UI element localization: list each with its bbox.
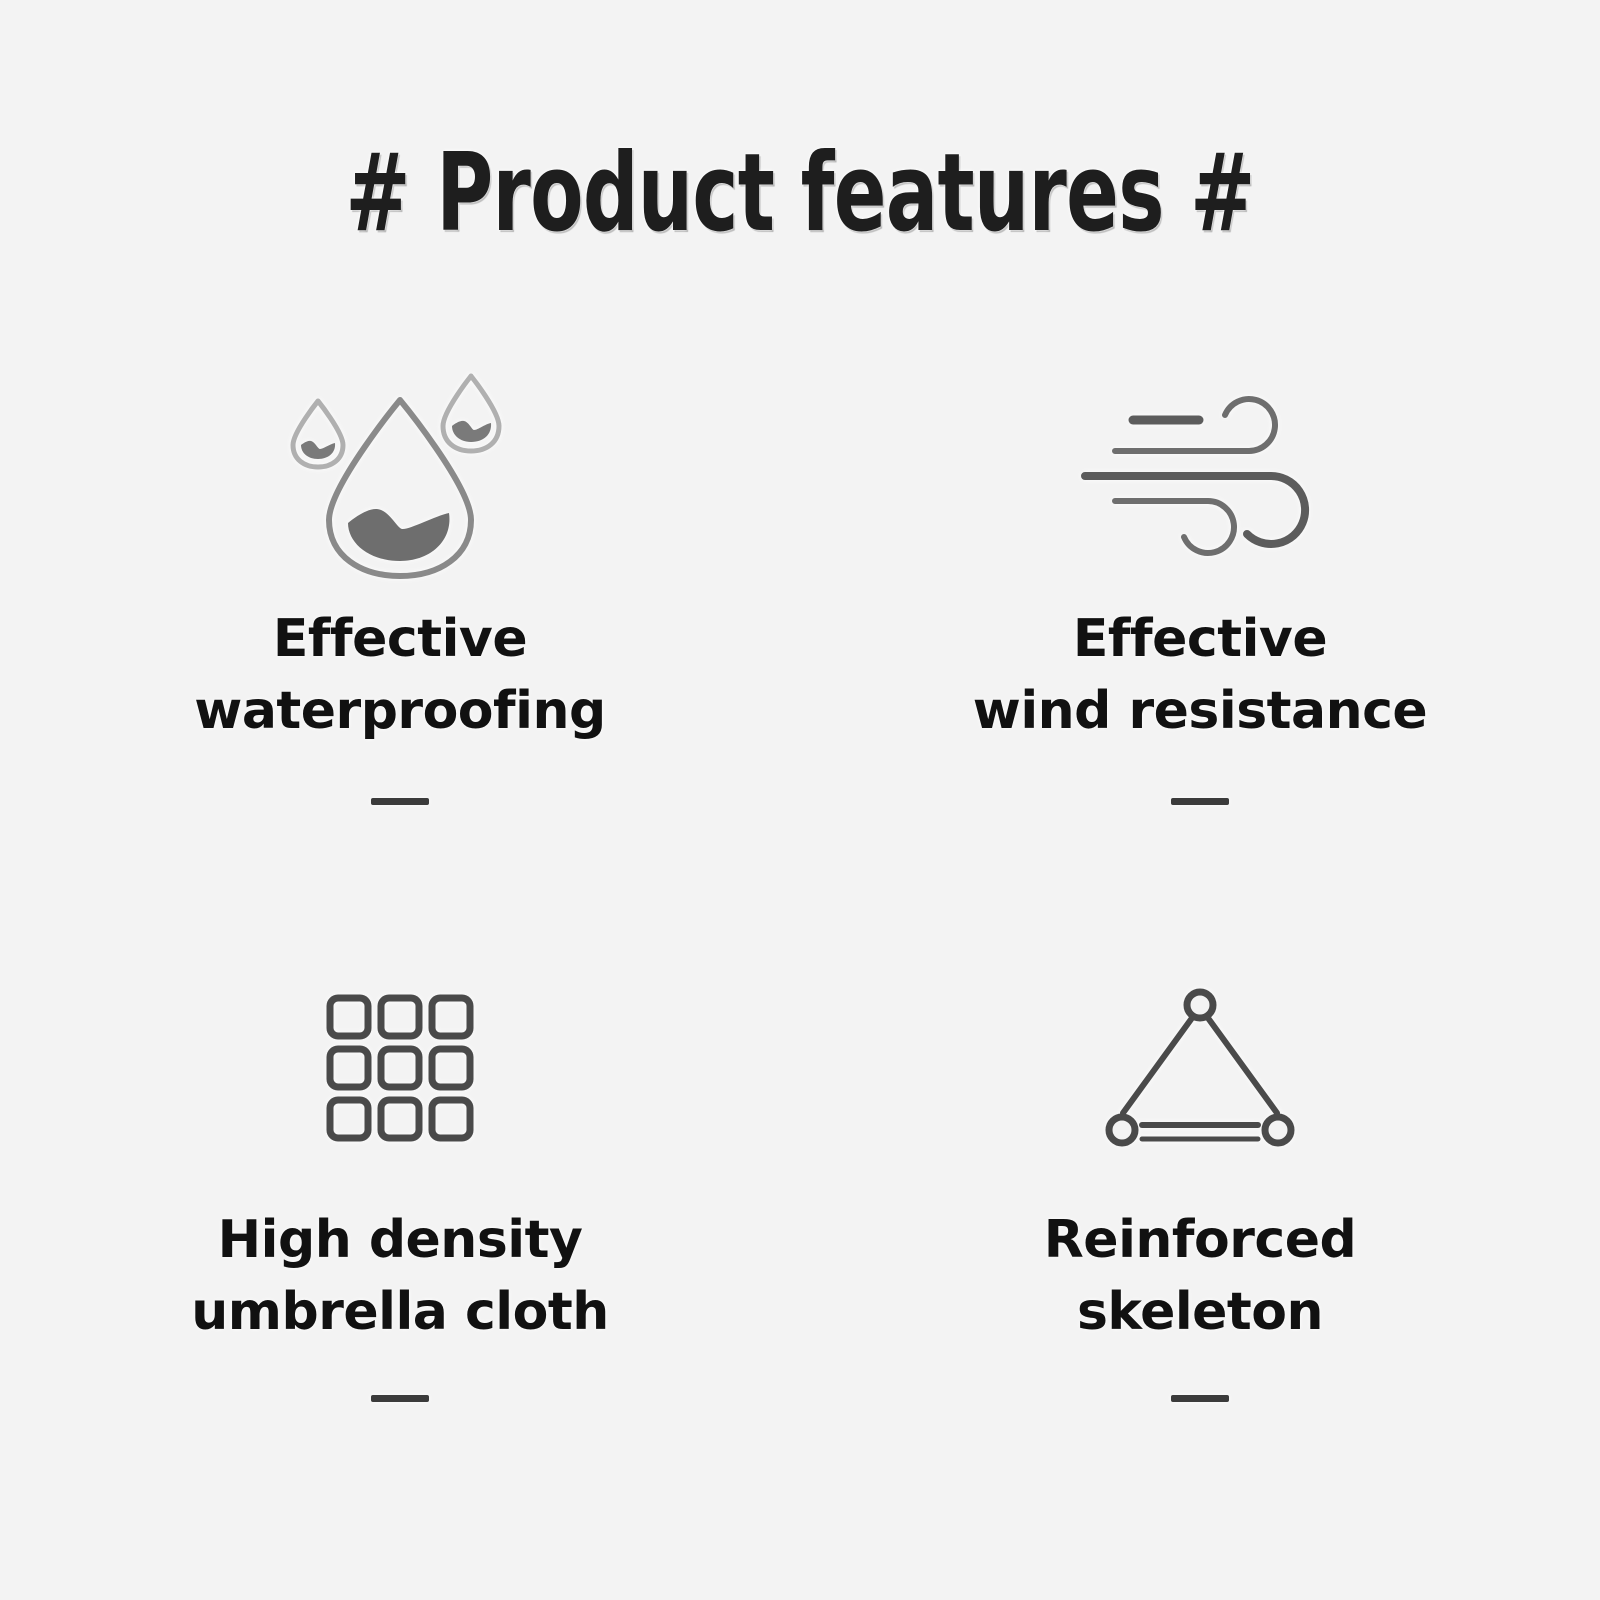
wind-icon xyxy=(1075,360,1325,590)
feature-divider xyxy=(371,1395,429,1402)
product-features-page: # Product features # xyxy=(0,0,1600,1600)
feature-divider xyxy=(1171,798,1229,805)
water-drop-icon xyxy=(285,360,515,590)
feature-label: Effective wind resistance xyxy=(973,604,1427,748)
features-grid: Effective waterproofing xyxy=(0,360,1600,1560)
feature-divider xyxy=(371,798,429,805)
feature-label: Effective waterproofing xyxy=(194,604,605,748)
feature-card-wind-resistance: Effective wind resistance xyxy=(800,360,1600,960)
feature-label: High density umbrella cloth xyxy=(191,1205,608,1349)
feature-card-skeleton: Reinforced skeleton xyxy=(800,960,1600,1560)
page-title: # Product features # xyxy=(224,140,1376,248)
feature-label: Reinforced skeleton xyxy=(1044,1205,1356,1349)
feature-card-umbrella-cloth: High density umbrella cloth xyxy=(0,960,800,1560)
feature-divider xyxy=(1171,1395,1229,1402)
triangle-frame-icon xyxy=(1100,960,1300,1175)
feature-card-waterproofing: Effective waterproofing xyxy=(0,360,800,960)
grid-mesh-icon xyxy=(325,960,475,1175)
